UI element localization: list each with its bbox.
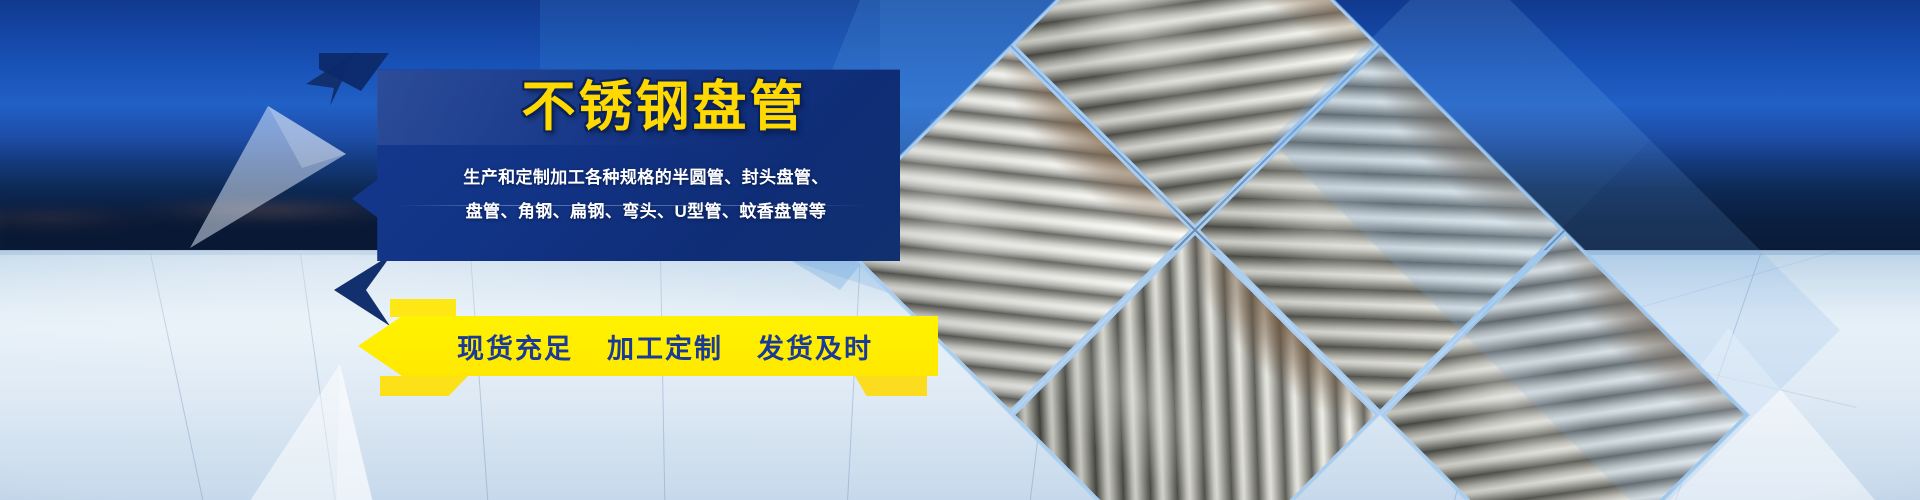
- page-title: 不锈钢盘管: [444, 79, 884, 136]
- feature-list: 现货充足 加工定制 发货及时: [410, 316, 920, 376]
- headline-ribbon-box: 不锈钢盘管 生产和定制加工各种规格的半圆管、封头盘管、 盘管、角钢、扁钢、弯头、…: [352, 53, 900, 261]
- product-photo-mosaic: [830, 0, 1920, 500]
- subtitle-line-2: 盘管、角钢、扁钢、弯头、U型管、蚊香盘管等: [400, 197, 892, 222]
- feature-item-1: 现货充足: [457, 327, 573, 366]
- feature-ribbon-tail-top: [390, 299, 456, 317]
- subtitle-line-1: 生产和定制加工各种规格的半圆管、封头盘管、: [400, 163, 892, 188]
- feature-item-3: 发货及时: [757, 327, 873, 366]
- feature-item-2: 加工定制: [607, 327, 723, 366]
- feature-ribbon: 现货充足 加工定制 发货及时: [358, 316, 938, 376]
- hero-banner: 不锈钢盘管 生产和定制加工各种规格的半圆管、封头盘管、 盘管、角钢、扁钢、弯头、…: [0, 0, 1920, 500]
- feature-ribbon-tail-right: [855, 376, 927, 396]
